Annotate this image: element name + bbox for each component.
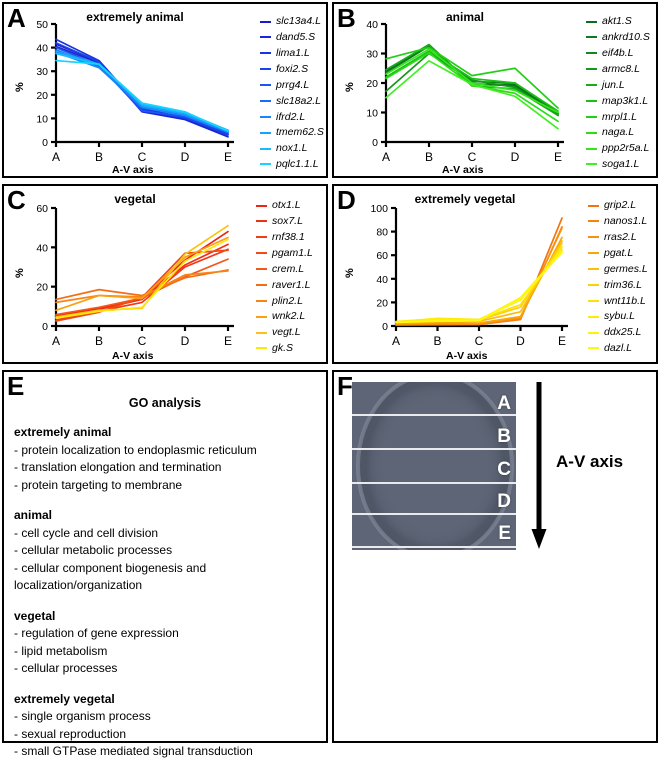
- svg-text:B: B: [95, 334, 103, 348]
- band-label-e: E: [498, 524, 511, 543]
- legend-item[interactable]: grip2.L: [588, 198, 660, 213]
- svg-text:D: D: [511, 150, 520, 164]
- panel-e: E GO analysis extremely animal- protein …: [2, 370, 328, 743]
- legend-label: grip2.L: [604, 200, 636, 211]
- legend-swatch-icon: [256, 347, 267, 349]
- go-group: extremely animal- protein localization t…: [14, 424, 320, 494]
- legend-item[interactable]: eif4b.L: [586, 46, 660, 61]
- svg-text:20: 20: [36, 282, 48, 294]
- legend-item[interactable]: trim36.L: [588, 277, 660, 292]
- panel-a: A extremely animal % 01020304050ABCDE sl…: [2, 2, 328, 178]
- legend-item[interactable]: map3k1.L: [586, 93, 660, 108]
- go-group-heading: extremely vegetal: [14, 691, 320, 709]
- legend-label: jun.L: [602, 80, 625, 91]
- legend-swatch-icon: [586, 84, 597, 86]
- legend-swatch-icon: [588, 236, 599, 238]
- svg-text:C: C: [468, 150, 477, 164]
- legend-item[interactable]: slc18a2.L: [260, 93, 330, 108]
- legend-item[interactable]: slc13a4.L: [260, 14, 330, 29]
- panel-d-xlabel: A-V axis: [446, 350, 487, 362]
- legend-label: wnk2.L: [272, 311, 305, 322]
- svg-text:60: 60: [376, 250, 388, 262]
- legend-label: sybu.L: [604, 311, 635, 322]
- go-analysis-body: extremely animal- protein localization t…: [14, 424, 320, 774]
- legend-swatch-icon: [586, 148, 597, 150]
- legend-label: armc8.L: [602, 64, 640, 75]
- svg-text:30: 30: [36, 66, 48, 78]
- legend-label: pqlc1.1.L: [276, 159, 319, 170]
- legend-item[interactable]: akt1.S: [586, 14, 660, 29]
- band-divider-4: [352, 513, 516, 515]
- legend-label: naga.L: [602, 127, 634, 138]
- svg-text:A: A: [382, 150, 390, 164]
- legend-swatch-icon: [256, 252, 267, 254]
- legend-label: trim36.L: [604, 280, 642, 291]
- band-label-b: B: [497, 427, 511, 446]
- svg-text:40: 40: [366, 19, 378, 31]
- legend-label: mrpl1.L: [602, 112, 637, 123]
- legend-item[interactable]: ifrd2.L: [260, 109, 330, 124]
- figure-root: A extremely animal % 01020304050ABCDE sl…: [0, 0, 660, 745]
- band-divider-3: [352, 482, 516, 484]
- legend-item[interactable]: rras2.L: [588, 230, 660, 245]
- svg-text:100: 100: [370, 203, 388, 215]
- panel-f: F A B C D E A-V axis: [332, 370, 658, 743]
- svg-text:E: E: [224, 334, 232, 348]
- svg-text:40: 40: [376, 274, 388, 286]
- svg-text:D: D: [516, 334, 525, 348]
- go-group: vegetal- regulation of gene expression- …: [14, 608, 320, 678]
- go-line: - single organism process: [14, 708, 320, 726]
- legend-item[interactable]: raver1.L: [256, 277, 330, 292]
- legend-swatch-icon: [260, 21, 271, 23]
- legend-item[interactable]: dazl.L: [588, 341, 660, 356]
- band-label-c: C: [497, 460, 511, 479]
- svg-text:D: D: [181, 334, 190, 348]
- legend-item[interactable]: ddx25.L: [588, 325, 660, 340]
- legend-item[interactable]: pgat.L: [588, 246, 660, 261]
- svg-text:50: 50: [36, 19, 48, 31]
- legend-swatch-icon: [588, 284, 599, 286]
- legend-item[interactable]: dand5.S: [260, 30, 330, 45]
- legend-item[interactable]: wnt11b.L: [588, 293, 660, 308]
- go-group-heading: vegetal: [14, 608, 320, 626]
- legend-label: nox1.L: [276, 143, 308, 154]
- legend-item[interactable]: nox1.L: [260, 141, 330, 156]
- svg-text:40: 40: [36, 242, 48, 254]
- legend-label: eif4b.L: [602, 48, 634, 59]
- svg-text:80: 80: [376, 227, 388, 239]
- legend-label: wnt11b.L: [604, 296, 646, 307]
- legend-label: map3k1.L: [602, 96, 648, 107]
- svg-text:E: E: [554, 150, 562, 164]
- svg-text:B: B: [95, 150, 103, 164]
- legend-label: tmem62.S: [276, 127, 324, 138]
- svg-text:C: C: [138, 150, 147, 164]
- band-label-a: A: [497, 394, 511, 413]
- legend-swatch-icon: [256, 220, 267, 222]
- legend-swatch-icon: [586, 116, 597, 118]
- legend-item[interactable]: sox7.L: [256, 214, 330, 229]
- panel-d: D extremely vegetal % 020406080100ABCDE …: [332, 184, 658, 364]
- legend-swatch-icon: [588, 300, 599, 302]
- go-line: - cellular component biogenesis and loca…: [14, 560, 320, 595]
- legend-item[interactable]: jun.L: [586, 78, 660, 93]
- legend-label: soga1.L: [602, 159, 639, 170]
- legend-item[interactable]: prrg4.L: [260, 78, 330, 93]
- legend-item[interactable]: tmem62.S: [260, 125, 330, 140]
- legend-swatch-icon: [256, 284, 267, 286]
- legend-item[interactable]: mrpl1.L: [586, 109, 660, 124]
- svg-text:20: 20: [376, 297, 388, 309]
- legend-swatch-icon: [586, 132, 597, 134]
- legend-item[interactable]: naga.L: [586, 125, 660, 140]
- legend-label: rras2.L: [604, 232, 637, 243]
- go-group-heading: extremely animal: [14, 424, 320, 442]
- band-divider-2: [352, 448, 516, 450]
- legend-item[interactable]: ppp2r5a.L: [586, 141, 660, 156]
- legend-swatch-icon: [256, 332, 267, 334]
- legend-label: pgat.L: [604, 248, 633, 259]
- go-group: animal- cell cycle and cell division- ce…: [14, 507, 320, 595]
- band-bottom-edge: [352, 546, 516, 548]
- legend-swatch-icon: [260, 100, 271, 102]
- legend-label: foxi2.S: [276, 64, 308, 75]
- legend-swatch-icon: [256, 205, 267, 207]
- go-line: - cell cycle and cell division: [14, 525, 320, 543]
- go-line: - cellular metabolic processes: [14, 542, 320, 560]
- svg-text:20: 20: [36, 90, 48, 102]
- legend-item[interactable]: otx1.L: [256, 198, 330, 213]
- legend-swatch-icon: [586, 36, 597, 38]
- svg-text:C: C: [475, 334, 484, 348]
- svg-text:C: C: [138, 334, 147, 348]
- svg-text:B: B: [425, 150, 433, 164]
- legend-swatch-icon: [256, 268, 267, 270]
- svg-text:E: E: [558, 334, 566, 348]
- legend-label: rnf38.1: [272, 232, 305, 243]
- legend-swatch-icon: [588, 205, 599, 207]
- legend-item[interactable]: soga1.L: [586, 157, 660, 172]
- av-axis-arrow-icon: [530, 382, 548, 550]
- legend-item[interactable]: foxi2.S: [260, 62, 330, 77]
- legend-label: ppp2r5a.L: [602, 143, 649, 154]
- legend-label: raver1.L: [272, 280, 311, 291]
- panel-c-legend: otx1.Lsox7.Lrnf38.1pgam1.Lcrem.Lraver1.L…: [256, 198, 330, 356]
- legend-swatch-icon: [256, 300, 267, 302]
- legend-label: ifrd2.L: [276, 112, 305, 123]
- panel-f-axis-caption: A-V axis: [556, 452, 623, 472]
- svg-text:10: 10: [36, 113, 48, 125]
- legend-label: pgam1.L: [272, 248, 313, 259]
- svg-text:30: 30: [366, 49, 378, 61]
- go-line: - sexual reproduction: [14, 726, 320, 744]
- svg-text:10: 10: [366, 108, 378, 120]
- legend-item[interactable]: wnk2.L: [256, 309, 330, 324]
- go-line: - regulation of gene expression: [14, 625, 320, 643]
- svg-text:D: D: [181, 150, 190, 164]
- legend-label: lima1.L: [276, 48, 310, 59]
- legend-swatch-icon: [588, 347, 599, 349]
- svg-text:20: 20: [366, 78, 378, 90]
- svg-text:0: 0: [42, 137, 48, 149]
- legend-item[interactable]: germes.L: [588, 262, 660, 277]
- legend-label: dazl.L: [604, 343, 632, 354]
- legend-label: dand5.S: [276, 32, 315, 43]
- panel-d-legend: grip2.Lnanos1.Lrras2.Lpgat.Lgermes.Ltrim…: [588, 198, 660, 356]
- legend-label: vegt.L: [272, 327, 301, 338]
- legend-item[interactable]: vegt.L: [256, 325, 330, 340]
- panel-a-legend: slc13a4.Ldand5.Slima1.Lfoxi2.Sprrg4.Lslc…: [260, 14, 330, 172]
- svg-text:A: A: [52, 150, 60, 164]
- legend-label: germes.L: [604, 264, 648, 275]
- legend-swatch-icon: [586, 52, 597, 54]
- svg-text:0: 0: [42, 321, 48, 333]
- panel-b-xlabel: A-V axis: [442, 164, 483, 176]
- legend-swatch-icon: [586, 163, 597, 165]
- legend-swatch-icon: [260, 148, 271, 150]
- legend-item[interactable]: armc8.L: [586, 62, 660, 77]
- legend-swatch-icon: [260, 84, 271, 86]
- legend-swatch-icon: [586, 68, 597, 70]
- legend-label: plin2.L: [272, 296, 303, 307]
- legend-swatch-icon: [260, 36, 271, 38]
- panel-f-letter: F: [337, 373, 353, 399]
- legend-item[interactable]: crem.L: [256, 262, 330, 277]
- go-line: - translation elongation and termination: [14, 459, 320, 477]
- svg-text:A: A: [52, 334, 60, 348]
- go-line: - small GTPase mediated signal transduct…: [14, 743, 320, 761]
- go-group: extremely vegetal- single organism proce…: [14, 691, 320, 761]
- go-line: - lipid metabolism: [14, 643, 320, 661]
- legend-label: ddx25.L: [604, 327, 641, 338]
- legend-swatch-icon: [588, 252, 599, 254]
- band-label-d: D: [497, 492, 511, 511]
- legend-label: ankrd10.S: [602, 32, 650, 43]
- svg-text:B: B: [433, 334, 441, 348]
- legend-item[interactable]: pgam1.L: [256, 246, 330, 261]
- legend-item[interactable]: lima1.L: [260, 46, 330, 61]
- legend-swatch-icon: [260, 132, 271, 134]
- legend-item[interactable]: plin2.L: [256, 293, 330, 308]
- legend-swatch-icon: [260, 163, 271, 165]
- panel-c: C vegetal % 0204060ABCDE otx1.Lsox7.Lrnf…: [2, 184, 328, 364]
- legend-swatch-icon: [260, 52, 271, 54]
- go-line: - cellular processes: [14, 660, 320, 678]
- legend-label: slc13a4.L: [276, 16, 321, 27]
- legend-label: gk.S: [272, 343, 293, 354]
- legend-swatch-icon: [260, 68, 271, 70]
- legend-label: otx1.L: [272, 200, 301, 211]
- legend-item[interactable]: sybu.L: [588, 309, 660, 324]
- legend-item[interactable]: gk.S: [256, 341, 330, 356]
- svg-text:0: 0: [382, 321, 388, 333]
- legend-label: sox7.L: [272, 216, 303, 227]
- legend-swatch-icon: [260, 116, 271, 118]
- legend-label: prrg4.L: [276, 80, 309, 91]
- legend-swatch-icon: [256, 316, 267, 318]
- band-divider-1: [352, 414, 516, 416]
- legend-label: slc18a2.L: [276, 96, 321, 107]
- panel-b-legend: akt1.Sankrd10.Seif4b.Larmc8.Ljun.Lmap3k1…: [586, 14, 660, 172]
- svg-text:0: 0: [372, 137, 378, 149]
- legend-swatch-icon: [588, 268, 599, 270]
- svg-text:40: 40: [36, 43, 48, 55]
- legend-item[interactable]: pqlc1.1.L: [260, 157, 330, 172]
- legend-swatch-icon: [586, 21, 597, 23]
- legend-swatch-icon: [256, 236, 267, 238]
- legend-label: crem.L: [272, 264, 304, 275]
- legend-item[interactable]: nanos1.L: [588, 214, 660, 229]
- legend-swatch-icon: [586, 100, 597, 102]
- go-line: - protein targeting to membrane: [14, 477, 320, 495]
- svg-text:A: A: [392, 334, 400, 348]
- legend-swatch-icon: [588, 220, 599, 222]
- legend-item[interactable]: ankrd10.S: [586, 30, 660, 45]
- panel-c-xlabel: A-V axis: [112, 350, 153, 362]
- svg-text:E: E: [224, 150, 232, 164]
- legend-label: akt1.S: [602, 16, 632, 27]
- embryo-image: A B C D E: [352, 382, 516, 550]
- go-line: - protein localization to endoplasmic re…: [14, 442, 320, 460]
- legend-swatch-icon: [588, 332, 599, 334]
- legend-label: nanos1.L: [604, 216, 647, 227]
- legend-swatch-icon: [588, 316, 599, 318]
- legend-item[interactable]: rnf38.1: [256, 230, 330, 245]
- go-analysis-title: GO analysis: [4, 396, 326, 410]
- panel-b: B animal % 010203040ABCDE akt1.Sankrd10.…: [332, 2, 658, 178]
- go-group-heading: animal: [14, 507, 320, 525]
- panel-a-xlabel: A-V axis: [112, 164, 153, 176]
- svg-text:60: 60: [36, 203, 48, 215]
- embryo-disc: [360, 382, 510, 550]
